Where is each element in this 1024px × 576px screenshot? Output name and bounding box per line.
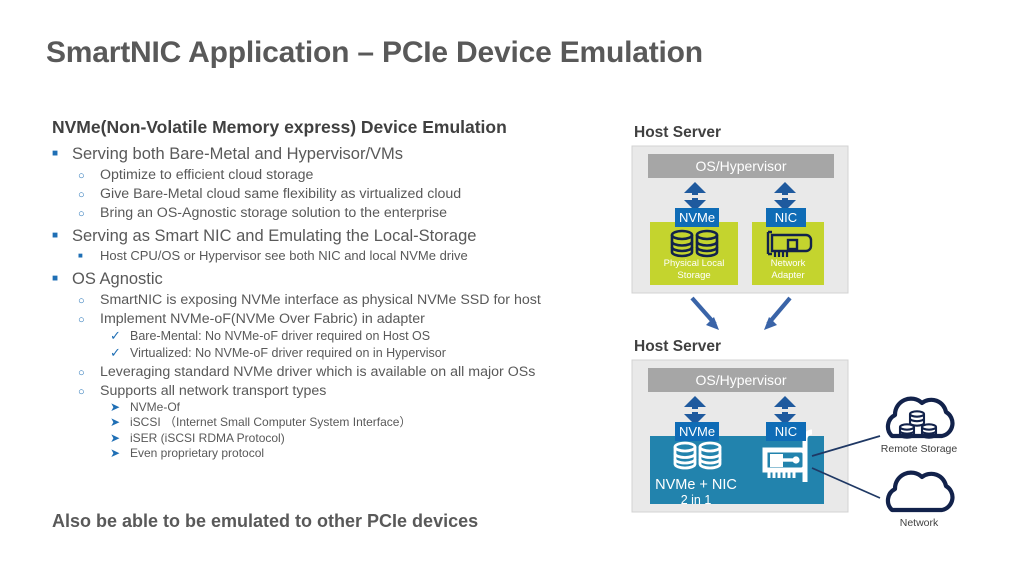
list-item: ○ Optimize to efficient cloud storage <box>52 166 612 184</box>
cloud-network-label: Network <box>900 517 939 529</box>
transition-arrow-right <box>764 298 790 330</box>
circle-bullet-icon: ○ <box>78 294 100 308</box>
arrowhead-bullet-icon: ➤ <box>110 415 130 430</box>
square-bullet-icon: ■ <box>52 148 72 161</box>
list-item: ○ Leveraging standard NVMe driver which … <box>52 363 612 381</box>
transition-arrow-left <box>692 298 719 330</box>
top-right-panel-label-1: Network <box>771 258 806 269</box>
check-bullet-icon: ✓ <box>110 345 130 362</box>
list-item: ■ Host CPU/OS or Hypervisor see both NIC… <box>52 248 612 265</box>
square-bullet-icon: ■ <box>52 273 72 286</box>
list-item: ○ SmartNIC is exposing NVMe interface as… <box>52 291 612 309</box>
top-left-panel-label-2: Storage <box>677 270 710 281</box>
list-item: ➤ iSER (iSCSI RDMA Protocol) <box>52 431 612 446</box>
bottom-nvme-badge-label: NVMe <box>679 424 715 439</box>
circle-bullet-icon: ○ <box>78 385 100 399</box>
square-bullet-icon: ■ <box>78 251 100 261</box>
list-item: ✓ Virtualized: No NVMe-oF driver require… <box>52 345 612 362</box>
circle-bullet-icon: ○ <box>78 366 100 380</box>
top-server-caption: Host Server <box>634 124 721 141</box>
circle-bullet-icon: ○ <box>78 169 100 183</box>
list-item: ■ Serving both Bare-Metal and Hypervisor… <box>52 144 612 165</box>
circle-bullet-icon: ○ <box>78 188 100 202</box>
list-item: ■ OS Agnostic <box>52 269 612 290</box>
list-item: ○ Implement NVMe-oF(NVMe Over Fabric) in… <box>52 310 612 328</box>
top-left-panel-label-1: Physical Local <box>664 258 725 269</box>
check-bullet-icon: ✓ <box>110 328 130 345</box>
outline-body: NVMe(Non-Volatile Memory express) Device… <box>52 116 612 461</box>
list-item: ○ Bring an OS-Agnostic storage solution … <box>52 204 612 222</box>
circle-bullet-icon: ○ <box>78 313 100 327</box>
list-item: ➤ iSCSI （Internet Small Computer System … <box>52 415 612 430</box>
list-item: ➤ Even proprietary protocol <box>52 446 612 461</box>
arrowhead-bullet-icon: ➤ <box>110 446 130 461</box>
bottom-server-caption: Host Server <box>634 338 721 355</box>
cloud-storage-icon <box>888 399 953 438</box>
top-nic-badge-label: NIC <box>775 210 797 225</box>
square-bullet-icon: ■ <box>52 230 72 243</box>
cloud-remote-storage-label: Remote Storage <box>881 443 958 455</box>
page-title: SmartNIC Application – PCIe Device Emula… <box>46 36 703 70</box>
list-item: ■ Serving as Smart NIC and Emulating the… <box>52 226 612 247</box>
outline-heading: NVMe(Non-Volatile Memory express) Device… <box>52 116 612 140</box>
arrowhead-bullet-icon: ➤ <box>110 400 130 415</box>
footer-statement: Also be able to be emulated to other PCI… <box>52 511 478 532</box>
cloud-icon <box>888 473 953 510</box>
arrowhead-bullet-icon: ➤ <box>110 431 130 446</box>
list-item: ➤ NVMe-Of <box>52 400 612 415</box>
circle-bullet-icon: ○ <box>78 207 100 221</box>
list-item: ○ Supports all network transport types <box>52 382 612 400</box>
bottom-panel-label-2: 2 in 1 <box>681 493 712 507</box>
architecture-diagram: Host Server OS/Hypervisor Physical Local… <box>618 118 1018 548</box>
top-os-bar-label: OS/Hypervisor <box>695 158 786 174</box>
top-nvme-badge-label: NVMe <box>679 210 715 225</box>
bottom-os-bar-label: OS/Hypervisor <box>695 372 786 388</box>
list-item: ✓ Bare-Mental: No NVMe-oF driver require… <box>52 328 612 345</box>
list-item: ○ Give Bare-Metal cloud same flexibility… <box>52 185 612 203</box>
top-right-panel-label-2: Adapter <box>771 270 804 281</box>
bottom-panel-label-1: NVMe + NIC <box>655 477 737 493</box>
bottom-nic-badge-label: NIC <box>775 424 797 439</box>
